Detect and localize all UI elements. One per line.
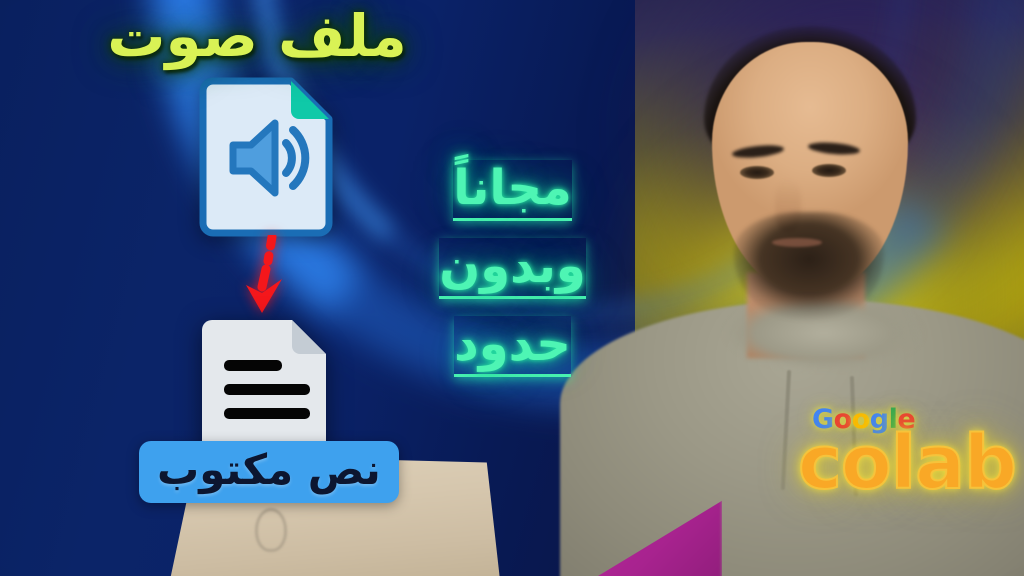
vignette-overlay — [0, 0, 1024, 576]
thumbnail-canvas: ملف صوت نص مكتوب مجاناً وبدون حدود Googl… — [0, 0, 1024, 576]
